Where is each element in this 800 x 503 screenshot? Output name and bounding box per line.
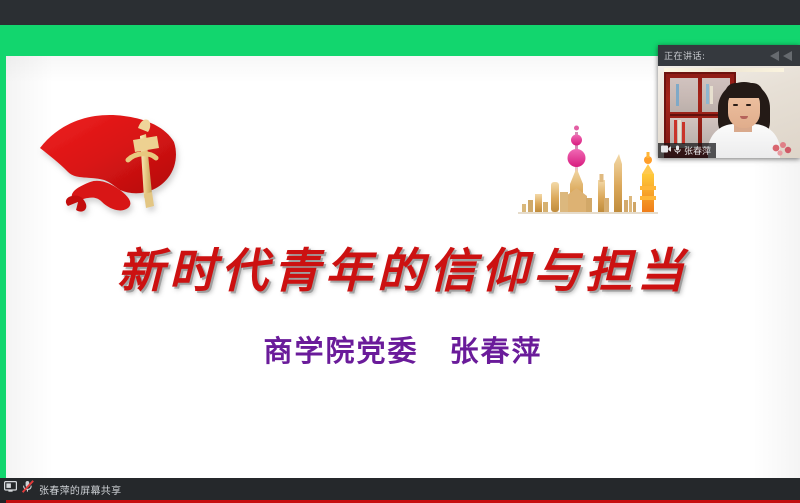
video-person-eye-right	[746, 104, 751, 106]
slide-title: 新时代青年的信仰与担当	[6, 232, 800, 301]
shanghai-skyline-graphic	[518, 118, 658, 220]
video-feed: 张春萍	[658, 66, 800, 158]
video-person-eye-left	[733, 104, 738, 106]
microphone-icon	[674, 145, 681, 157]
status-bar-text: 张春萍的屏幕共享	[39, 482, 121, 497]
speaking-status-label: 正在讲话:	[664, 49, 706, 62]
monitor-screen-icon	[4, 480, 17, 498]
double-chevron-left-icon[interactable]	[768, 50, 794, 62]
participant-name-text: 张春萍	[684, 144, 711, 157]
video-camera-icon	[661, 145, 671, 156]
status-bar: 张春萍的屏幕共享	[0, 478, 800, 500]
microphone-muted-icon	[22, 480, 34, 498]
video-panel-header[interactable]: 正在讲话:	[658, 45, 800, 66]
video-person-fringe	[725, 83, 763, 98]
zoom-app-window: 新时代青年的信仰与担当 商学院党委 张春萍 正在讲话:	[0, 0, 800, 500]
video-flowers	[770, 140, 794, 158]
slide-subtitle: 商学院党委 张春萍	[6, 328, 800, 370]
red-flag-torch-emblem	[28, 98, 196, 226]
participant-video-panel[interactable]: 正在讲话:	[658, 45, 800, 158]
participant-name-badge: 张春萍	[658, 143, 716, 158]
